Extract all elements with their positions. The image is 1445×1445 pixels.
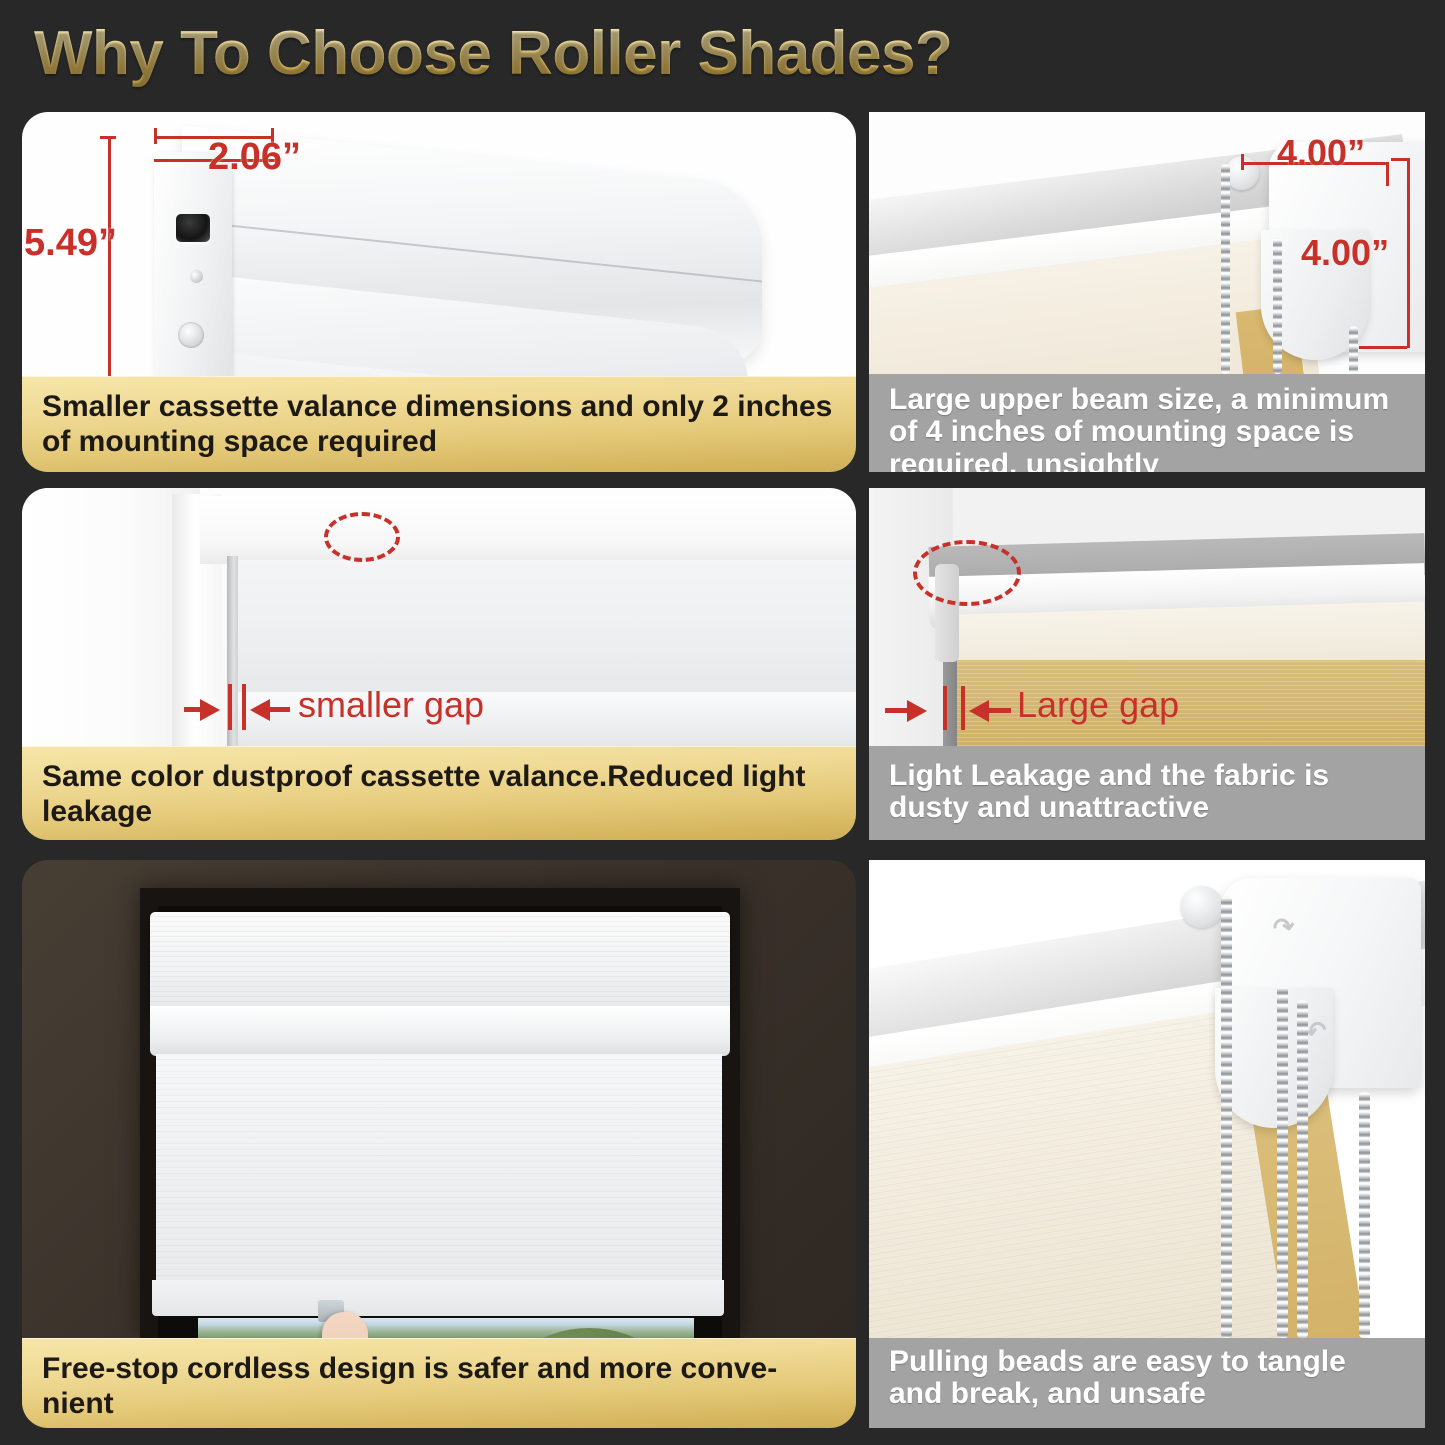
shade-bottom-rail: [152, 1280, 724, 1316]
gap-marker-right: [242, 684, 246, 730]
roller-end-cap: [1181, 886, 1223, 928]
caption-text: Same color dustproof cassette valance.Re…: [42, 760, 836, 830]
large-beam-photo: 4.00” 4.00”: [869, 112, 1425, 374]
height-dimension-label: 5.49”: [24, 222, 117, 265]
beam-height-tick-top: [1391, 158, 1407, 161]
bead-chain-back: [1297, 1000, 1308, 1338]
caption-line-2: nient: [42, 1387, 836, 1422]
caption-dustproof-cassette: Same color dustproof cassette valance.Re…: [22, 746, 856, 840]
bead-chain-front: [1221, 896, 1232, 1338]
width-dimension-label: 2.06”: [208, 136, 301, 179]
cassette-valance: [150, 912, 730, 1012]
card-pulling-beads: ↷ ↶ Pulling beads are easy to tangle and…: [869, 860, 1425, 1428]
caption-line-1: Free-stop cordless design is safer and m…: [42, 1352, 836, 1387]
cordless-window-photo: [22, 860, 856, 1338]
caption-line-1: Pulling beads are easy to tangle: [889, 1346, 1405, 1378]
caption-text: Large upper beam size, a minimum of 4 in…: [889, 384, 1405, 472]
gap-marker-right: [961, 686, 965, 730]
bead-chain-front: [1221, 164, 1230, 374]
gap-arrow-right-icon: [969, 700, 989, 722]
caption-light-leakage: Light Leakage and the fabric is dusty an…: [869, 746, 1425, 840]
cassette-valance-face: [234, 560, 856, 692]
shade-fabric: [156, 1054, 722, 1288]
caption-text: Light Leakage and the fabric is dusty an…: [889, 760, 1405, 825]
caption-pulling-beads: Pulling beads are easy to tangle and bre…: [869, 1338, 1425, 1428]
large-gap-label: Large gap: [1017, 684, 1179, 726]
bracket-arrow-glyph-upper: ↷: [1271, 910, 1297, 944]
gap-arrow-left-stem: [184, 707, 204, 712]
window-frame-head: [200, 496, 856, 564]
cassette-valance-photo: 2.06” 5.49”: [22, 112, 856, 384]
tree-right: [494, 1328, 684, 1338]
gap-arrow-right-icon: [250, 699, 270, 721]
card-cordless-design: Free-stop cordless design is safer and m…: [22, 860, 856, 1428]
highlight-dashed-circle: [913, 540, 1021, 606]
gap-arrow-left-stem: [885, 708, 911, 713]
bracket-lower-lobe: [1215, 988, 1333, 1128]
caption-text: Smaller cassette valance dimensions and …: [42, 390, 836, 460]
card-light-leakage: Large gap Light Leakage and the fabric i…: [869, 488, 1425, 840]
pulling-beads-photo: ↷ ↶: [869, 860, 1425, 1338]
caption-line-2: and break, and unsafe: [889, 1378, 1405, 1410]
caption-cordless-design: Free-stop cordless design is safer and m…: [22, 1338, 856, 1428]
beam-width-tick-left: [1241, 154, 1244, 170]
card-large-upper-beam: 4.00” 4.00” Large upper beam size, a min…: [869, 112, 1425, 472]
bead-chain-back: [1273, 238, 1282, 374]
smaller-gap-label: smaller gap: [298, 684, 484, 726]
caption-large-upper-beam: Large upper beam size, a minimum of 4 in…: [869, 374, 1425, 472]
highlight-dashed-circle: [324, 512, 400, 562]
caption-cassette-dimensions: Smaller cassette valance dimensions and …: [22, 376, 856, 472]
card-cassette-dimensions: 2.06” 5.49” Smaller cassette valance dim…: [22, 112, 856, 472]
bead-chain-loop: [1349, 326, 1358, 374]
width-dimension-tick-left: [154, 128, 157, 144]
infographic-page: Why To Choose Roller Shades? 2.06” 5.49”: [0, 0, 1445, 1445]
page-title: Why To Choose Roller Shades?: [34, 18, 952, 89]
valance-end-cap: [154, 152, 232, 384]
bracket-slot: [176, 214, 210, 242]
height-dimension-tick-top: [100, 136, 116, 139]
card-dustproof-cassette: smaller gap Same color dustproof cassett…: [22, 488, 856, 840]
beam-width-tick-right: [1386, 162, 1389, 186]
bracket-screw-lower: [178, 322, 204, 348]
beam-height-label: 4.00”: [1301, 232, 1389, 274]
gap-arrow-right-stem: [270, 707, 290, 712]
beam-height-tick-bottom: [1359, 346, 1407, 349]
bracket-screw-upper: [190, 270, 203, 283]
gap-marker-left: [228, 684, 232, 730]
gap-arrow-right-stem: [989, 708, 1011, 713]
beam-width-label: 4.00”: [1277, 132, 1365, 174]
bead-chain-middle: [1277, 986, 1288, 1338]
gap-marker-left: [943, 686, 947, 730]
beam-height-line: [1407, 158, 1410, 348]
valance-lower-lip: [150, 1006, 730, 1056]
window-glass-view: [198, 1318, 694, 1338]
bead-chain-loop: [1359, 1092, 1370, 1338]
dustproof-cassette-photo: smaller gap: [22, 488, 856, 746]
light-leakage-photo: Large gap: [869, 488, 1425, 746]
